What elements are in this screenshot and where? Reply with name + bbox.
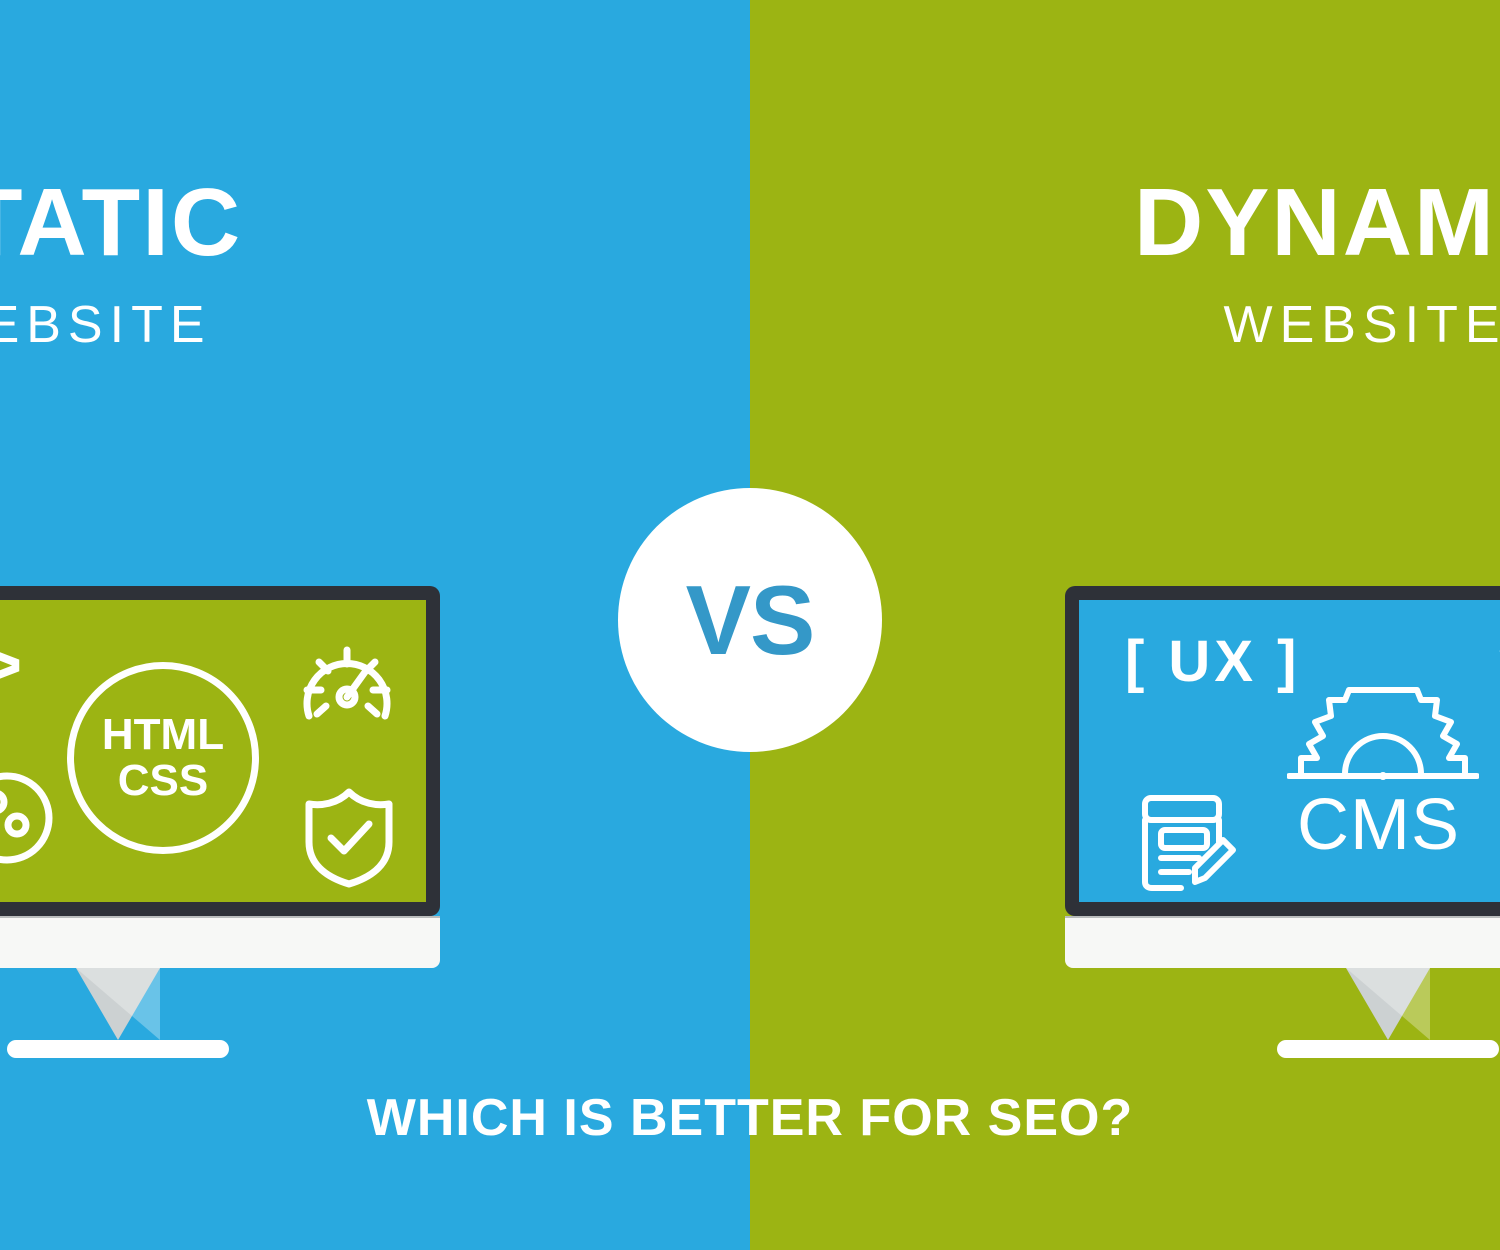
monitor-stand-highlight bbox=[1346, 968, 1430, 1040]
ux-label: [ UX ] bbox=[1125, 628, 1300, 695]
monitor-screen-dynamic: [ UX ] yoast CMS bbox=[1079, 600, 1500, 902]
settings-dots-icon bbox=[0, 770, 55, 866]
shield-check-icon bbox=[301, 784, 397, 890]
monitor-chin bbox=[0, 916, 440, 968]
footer-question: WHICH IS BETTER FOR SEO? bbox=[0, 1088, 1500, 1148]
monitor-bezel: > HTML CSS bbox=[0, 586, 440, 916]
html-css-badge: HTML CSS bbox=[67, 662, 259, 854]
monitor-screen-static: > HTML CSS bbox=[0, 600, 426, 902]
document-edit-icon bbox=[1137, 790, 1237, 894]
gear-cms-icon bbox=[1287, 686, 1479, 784]
badge-line-html: HTML bbox=[102, 712, 224, 758]
badge-line-css: CSS bbox=[118, 758, 208, 804]
monitor-stand-base bbox=[1277, 1040, 1499, 1058]
monitor-stand-neck bbox=[76, 968, 160, 1040]
left-title-block: STATIC WEBSITE bbox=[0, 175, 350, 351]
monitor-chin bbox=[1065, 916, 1500, 968]
vs-badge: VS bbox=[618, 488, 882, 752]
monitor-stand-neck bbox=[1346, 968, 1430, 1040]
left-title: STATIC bbox=[0, 175, 350, 271]
right-title-block: DYNAMIC WEBSITE bbox=[1085, 175, 1500, 351]
cms-label: CMS bbox=[1297, 784, 1460, 866]
monitor-stand-highlight bbox=[76, 968, 160, 1040]
static-website-monitor: > HTML CSS bbox=[0, 586, 440, 1058]
dynamic-website-monitor: [ UX ] yoast CMS bbox=[1065, 586, 1500, 1058]
code-bracket-icon: > bbox=[0, 622, 22, 707]
left-subtitle: WEBSITE bbox=[0, 299, 350, 351]
right-subtitle: WEBSITE bbox=[1085, 299, 1500, 351]
speed-gauge-icon bbox=[299, 642, 395, 738]
vs-label: VS bbox=[686, 571, 815, 669]
monitor-bezel: [ UX ] yoast CMS bbox=[1065, 586, 1500, 916]
right-title: DYNAMIC bbox=[1085, 175, 1500, 271]
monitor-stand-base bbox=[7, 1040, 229, 1058]
infographic-canvas: STATIC WEBSITE DYNAMIC WEBSITE VS > bbox=[0, 0, 1500, 1250]
